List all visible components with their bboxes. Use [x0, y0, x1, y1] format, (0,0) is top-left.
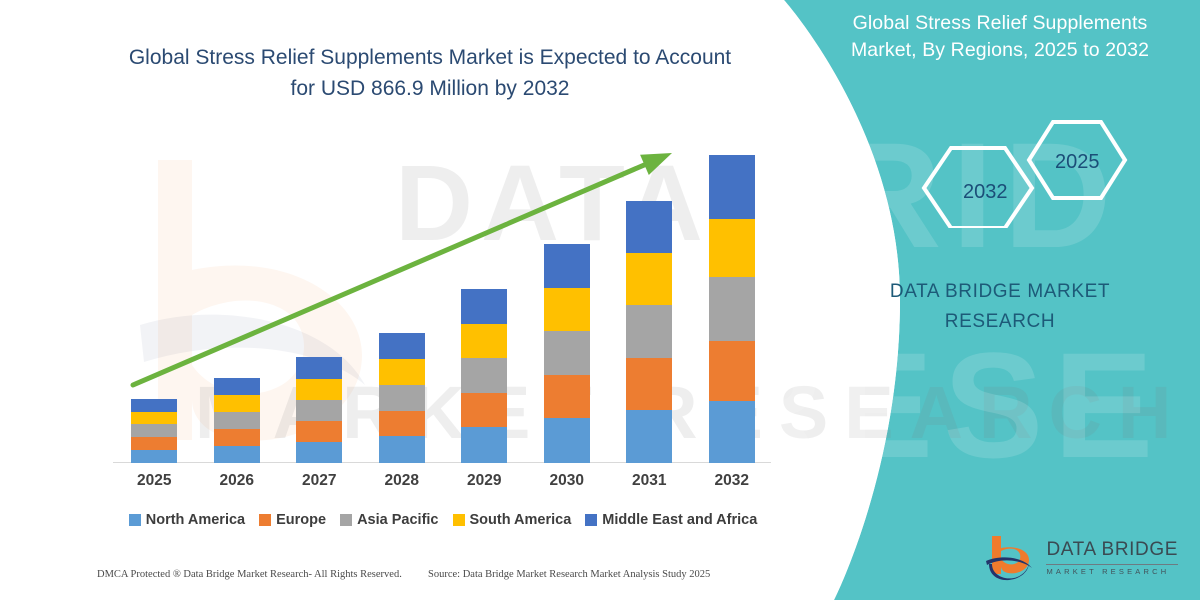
bar-segment-asia-pacific[interactable] [214, 412, 260, 429]
bar-group-2032[interactable] [694, 155, 769, 463]
panel-brand-line2: RESEARCH [810, 307, 1190, 337]
x-tick-label-2032: 2032 [694, 472, 769, 490]
legend-swatch-icon [453, 514, 465, 526]
bar-segment-south-america[interactable] [544, 288, 590, 331]
bar-group-2030[interactable] [529, 244, 604, 463]
legend-label: Europe [276, 512, 326, 528]
dbmr-logo-name: DATA BRIDGE [1046, 540, 1178, 559]
bar-segment-north-america[interactable] [461, 427, 507, 463]
x-tick-label-2025: 2025 [117, 472, 192, 490]
legend-label: Middle East and Africa [602, 512, 757, 528]
x-tick-label-2029: 2029 [447, 472, 522, 490]
bar-segment-middle-east-and-africa[interactable] [214, 378, 260, 395]
x-tick-label-2030: 2030 [529, 472, 604, 490]
bar-segment-middle-east-and-africa[interactable] [544, 244, 590, 288]
bar-group-2025[interactable] [117, 399, 192, 463]
bar-group-2026[interactable] [199, 378, 274, 463]
legend-item-north-america[interactable]: North America [129, 512, 245, 528]
bar-group-2029[interactable] [447, 289, 522, 463]
bar-segment-south-america[interactable] [461, 324, 507, 358]
bar-segment-north-america[interactable] [626, 410, 672, 463]
legend-swatch-icon [129, 514, 141, 526]
x-tick-label-2026: 2026 [199, 472, 274, 490]
bar-segment-asia-pacific[interactable] [461, 358, 507, 393]
bar-segment-europe[interactable] [379, 411, 425, 436]
bar-segment-south-america[interactable] [709, 219, 755, 277]
legend-item-europe[interactable]: Europe [259, 512, 326, 528]
x-axis-tick-labels: 20252026202720282029203020312032 [113, 472, 773, 496]
right-teal-panel: BRID RESE Global Stress Relief Supplemen… [770, 0, 1200, 600]
hexagon-2025-label: 2025 [1055, 151, 1100, 174]
bar-segment-north-america[interactable] [544, 418, 590, 463]
stacked-bar[interactable] [461, 289, 507, 463]
bar-segment-middle-east-and-africa[interactable] [131, 399, 177, 412]
dbmr-logo: DATA BRIDGE MARKET RESEARCH [984, 534, 1178, 582]
bar-segment-middle-east-and-africa[interactable] [626, 201, 672, 253]
stacked-bar[interactable] [296, 357, 342, 463]
bar-segment-middle-east-and-africa[interactable] [379, 333, 425, 359]
x-tick-label-2031: 2031 [612, 472, 687, 490]
bar-segment-europe[interactable] [296, 421, 342, 442]
panel-heading: Global Stress Relief Supplements Market,… [810, 10, 1190, 64]
bar-group-2027[interactable] [282, 357, 357, 463]
legend-item-middle-east-and-africa[interactable]: Middle East and Africa [585, 512, 757, 528]
hexagon-outlines-icon [905, 118, 1145, 228]
page-title: Global Stress Relief Supplements Market … [80, 42, 780, 104]
hexagon-2032-label: 2032 [963, 181, 1008, 204]
footer-copyright: DMCA Protected ® Data Bridge Market Rese… [97, 569, 402, 580]
bar-segment-asia-pacific[interactable] [709, 277, 755, 341]
bar-segment-europe[interactable] [709, 341, 755, 401]
legend-swatch-icon [259, 514, 271, 526]
stacked-bar[interactable] [214, 378, 260, 463]
bar-segment-south-america[interactable] [296, 379, 342, 400]
page-title-line1: Global Stress Relief Supplements Market … [80, 42, 780, 73]
panel-brand: DATA BRIDGE MARKET RESEARCH [810, 277, 1190, 337]
stacked-bar[interactable] [379, 333, 425, 463]
legend-label: Asia Pacific [357, 512, 438, 528]
bar-group-2031[interactable] [612, 201, 687, 463]
bar-segment-south-america[interactable] [626, 253, 672, 305]
bar-segment-asia-pacific[interactable] [131, 424, 177, 437]
legend-label: South America [470, 512, 572, 528]
legend-swatch-icon [585, 514, 597, 526]
bar-segment-south-america[interactable] [131, 412, 177, 424]
bar-segment-asia-pacific[interactable] [544, 331, 590, 375]
bar-segment-north-america[interactable] [296, 442, 342, 463]
panel-heading-line2: Market, By Regions, 2025 to 2032 [810, 37, 1190, 64]
dbmr-logo-subtitle: MARKET RESEARCH [1046, 564, 1178, 576]
page-title-line2: for USD 866.9 Million by 2032 [80, 73, 780, 104]
bar-segment-middle-east-and-africa[interactable] [296, 357, 342, 379]
dbmr-logo-text: DATA BRIDGE MARKET RESEARCH [1046, 540, 1178, 576]
bar-segment-europe[interactable] [214, 429, 260, 446]
infographic-root: DATA MARKET RESEARCH Global Stress Relie… [0, 0, 1200, 600]
panel-heading-line1: Global Stress Relief Supplements [810, 10, 1190, 37]
legend-item-asia-pacific[interactable]: Asia Pacific [340, 512, 438, 528]
bar-segment-europe[interactable] [544, 375, 590, 418]
bar-segment-europe[interactable] [626, 358, 672, 410]
panel-brand-line1: DATA BRIDGE MARKET [810, 277, 1190, 307]
bar-segment-south-america[interactable] [379, 359, 425, 385]
x-tick-label-2028: 2028 [364, 472, 439, 490]
bar-group-2028[interactable] [364, 333, 439, 463]
bar-segment-asia-pacific[interactable] [379, 385, 425, 411]
bar-segment-middle-east-and-africa[interactable] [461, 289, 507, 324]
bar-segment-middle-east-and-africa[interactable] [709, 155, 755, 219]
bar-segment-north-america[interactable] [214, 446, 260, 463]
stacked-bar[interactable] [544, 244, 590, 463]
bar-segment-north-america[interactable] [709, 401, 755, 463]
legend-item-south-america[interactable]: South America [453, 512, 572, 528]
bar-segment-north-america[interactable] [379, 436, 425, 463]
year-hexagons: 2025 2032 [905, 118, 1145, 228]
stacked-bar[interactable] [709, 155, 755, 463]
bar-segment-europe[interactable] [461, 393, 507, 427]
stacked-bar[interactable] [131, 399, 177, 463]
x-tick-label-2027: 2027 [282, 472, 357, 490]
bar-segment-south-america[interactable] [214, 395, 260, 412]
chart-legend: North AmericaEuropeAsia PacificSouth Ame… [113, 512, 773, 528]
footer-source: Source: Data Bridge Market Research Mark… [428, 569, 710, 580]
bar-segment-europe[interactable] [131, 437, 177, 450]
legend-swatch-icon [340, 514, 352, 526]
legend-label: North America [146, 512, 245, 528]
stacked-bar[interactable] [626, 201, 672, 463]
bar-segment-asia-pacific[interactable] [626, 305, 672, 358]
bar-segment-asia-pacific[interactable] [296, 400, 342, 421]
bar-segment-north-america[interactable] [131, 450, 177, 463]
dbmr-logo-mark-icon [984, 534, 1036, 582]
bar-series-container [113, 120, 773, 463]
